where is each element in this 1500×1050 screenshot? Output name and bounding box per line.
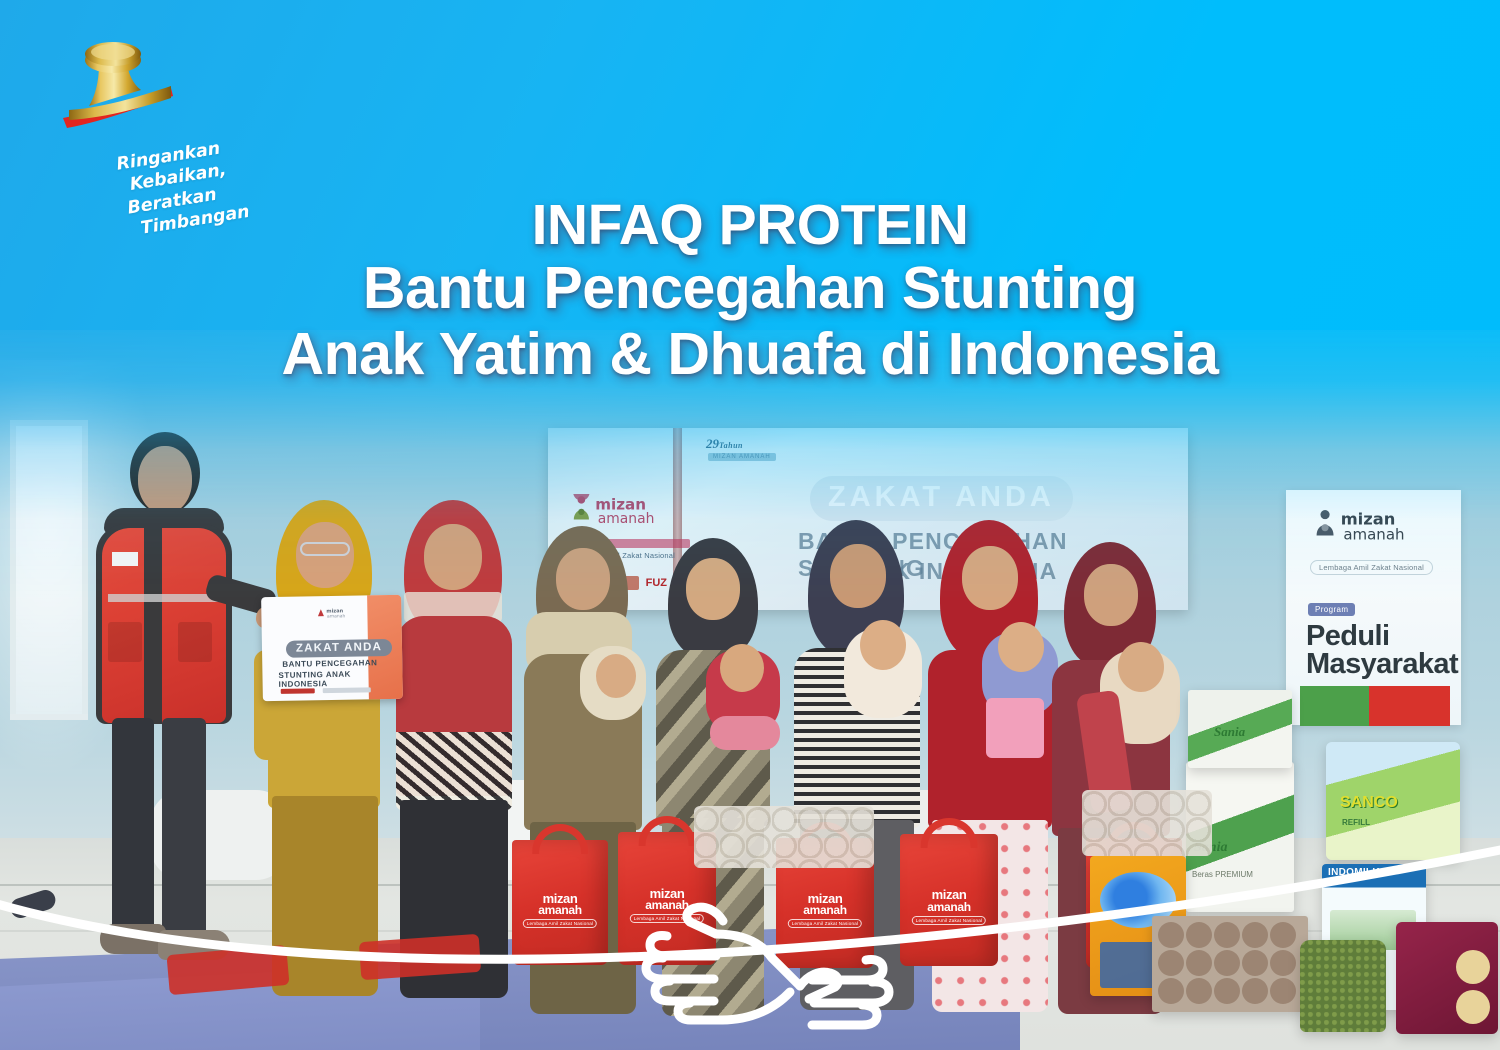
anniversary-sub: MIZAN AMANAH [708, 453, 776, 461]
mizan-logo-icon: mizan amanah [313, 605, 369, 619]
bag-branding: mizan amanah Lembaga Amil Zakat Nasional [630, 888, 704, 923]
sign-line-2: BANTU PENCEGAHAN [282, 658, 377, 669]
mizan-amanah-brand-mark: Ringankan Kebaikan, Beratkan Timbangan [55, 38, 265, 218]
poster-headline: INFAQ PROTEIN Bantu Pencegahan Stunting … [0, 196, 1500, 387]
garlic-pile [694, 806, 874, 868]
svg-text:mizan: mizan [326, 608, 343, 614]
sign-line-3: STUNTING ANAK INDONESIA [278, 669, 402, 689]
grocery-egg-tray [1152, 916, 1308, 1012]
grocery-sania-oil: Sania [1188, 690, 1292, 768]
svg-text:amanah: amanah [1343, 525, 1404, 543]
goodie-bag: mizan amanah Lembaga Amil Zakat Nasional [900, 834, 998, 966]
headline-line-1: INFAQ PROTEIN [0, 196, 1500, 255]
program-badge: Program [1308, 603, 1355, 616]
roll-banner-peduli-masyarakat: mizan amanah Lembaga Amil Zakat Nasional… [1286, 490, 1461, 725]
sign-footer-bar [281, 688, 315, 694]
mizan-logo-icon: mizan amanah [1312, 508, 1436, 546]
zakat-anda-sign: mizan amanah ZAKAT ANDA BANTU PENCEGAHAN… [261, 595, 403, 701]
svg-text:amanah: amanah [598, 511, 655, 527]
sign-footer-logos [323, 687, 371, 693]
bag-branding: mizan amanah Lembaga Amil Zakat Nasional [912, 889, 986, 924]
grocery-sanco-oil: SANCO REFILL [1326, 742, 1460, 860]
headline-line-2: Bantu Pencegahan Stunting [0, 255, 1500, 321]
sign-badge: ZAKAT ANDA [286, 639, 392, 658]
grocery-mung-beans [1300, 940, 1386, 1032]
garlic-pile [1082, 790, 1212, 856]
roll-banner-photo-strip [1300, 686, 1450, 726]
bag-branding: mizan amanah Lembaga Amil Zakat Nasional [788, 893, 862, 928]
roll-banner-title-2: Masyarakat [1306, 648, 1458, 681]
goodie-bag: mizan amanah Lembaga Amil Zakat Nasional [512, 840, 608, 965]
backdrop-headline-badge: ZAKAT ANDA [810, 476, 1073, 521]
mizan-amanah-logo: mizan amanah [313, 605, 369, 624]
svg-text:amanah: amanah [327, 613, 346, 619]
mizan-amanah-logo: mizan amanah [1312, 508, 1436, 551]
window [10, 420, 88, 720]
scale-weight-icon [55, 38, 195, 158]
headline-line-3: Anak Yatim & Dhuafa di Indonesia [0, 321, 1500, 387]
person-volunteer [86, 432, 236, 1032]
anniversary-mark: 29Tahun [706, 436, 743, 452]
roll-banner-caption: Lembaga Amil Zakat Nasional [1310, 560, 1433, 575]
poster-canvas: 29Tahun MIZAN AMANAH mizan amanah [0, 0, 1500, 1050]
grocery-biscuit [1396, 922, 1498, 1034]
bag-branding: mizan amanah Lembaga Amil Zakat Nasional [523, 893, 597, 928]
